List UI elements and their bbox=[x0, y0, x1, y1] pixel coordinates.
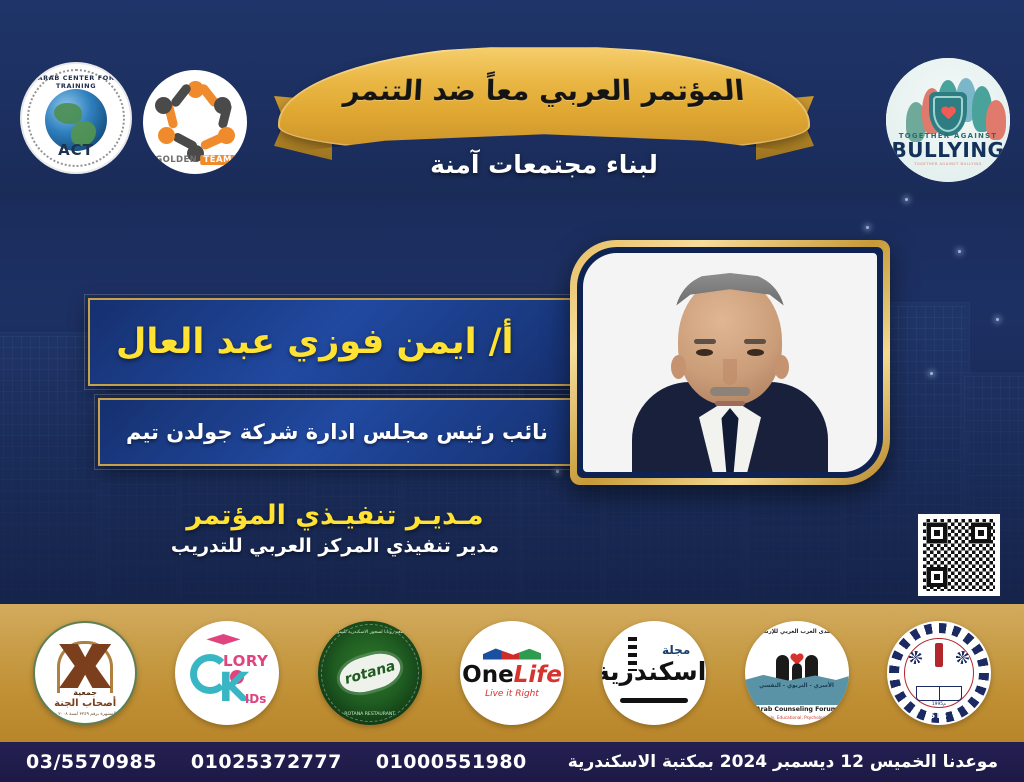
phone-1[interactable]: 03/5570985 bbox=[26, 751, 157, 773]
speaker-role-plaque: نائب رئيس مجلس ادارة شركة جولدن تيم bbox=[98, 398, 578, 466]
conference-title: المؤتمر العربي معاً ضد التنمر bbox=[276, 74, 812, 107]
speaker-name-plaque: أ/ ايمن فوزي عبد العال bbox=[88, 298, 578, 386]
underline-bar bbox=[620, 698, 688, 703]
act-arc-label: ARAB CENTER FOR TRAINING bbox=[22, 74, 130, 90]
acf-english: Arab Counseling Forum bbox=[745, 706, 849, 713]
acf-arabic-mid: الأسري - التربوي - النفسي bbox=[745, 683, 849, 689]
conference-subtitle: لبناء مجتمعات آمنة bbox=[278, 150, 810, 179]
qr-code[interactable] bbox=[918, 514, 1000, 596]
sparkle bbox=[996, 318, 999, 321]
sparkle bbox=[905, 198, 908, 201]
title-ribbon: المؤتمر العربي معاً ضد التنمر bbox=[278, 44, 810, 154]
executive-title-block: مـديـر تنفيـذي المؤتمر مدير تنفيذي المرك… bbox=[100, 500, 570, 557]
qr-finder-topleft bbox=[927, 523, 947, 543]
speaker-name: أ/ ايمن فوزي عبد العال bbox=[116, 322, 514, 362]
rotana-name: rotana bbox=[342, 658, 396, 688]
phone-3[interactable]: 01000551980 bbox=[376, 751, 527, 773]
magazine-name: اسكندرية bbox=[602, 659, 706, 684]
footer-bar: 03/5570985 01025372777 01000551980 موعدن… bbox=[0, 742, 1024, 782]
sparkle bbox=[958, 250, 961, 253]
rotana-top-text: مطعم روتانا لسحور الاسكندرية للتموين bbox=[318, 630, 422, 635]
logo-together-against-bullying: TOGETHER AGAINST BULLYING TOGETHER AGAIN… bbox=[886, 58, 1010, 182]
sponsor-logo-arab-counseling-forum: منتدى العرب العربي للإرشاد الأسري - التر… bbox=[745, 621, 849, 725]
logo-golden-team: GOLDEN TEAM bbox=[143, 70, 247, 174]
sponsor-line3: المشهرة برقم ٣٢٤٩ لسنة ٢٠٠٨ م bbox=[35, 712, 135, 717]
speaker-photo bbox=[583, 253, 877, 472]
phone-2[interactable]: 01025372777 bbox=[191, 751, 342, 773]
executive-subtitle: مدير تنفيذي المركز العربي للتدريب bbox=[100, 535, 570, 557]
golden-team-word1: GOLDEN bbox=[155, 155, 197, 165]
magazine-label: مجلة bbox=[662, 643, 690, 657]
event-date-venue: موعدنا الخميس 12 ديسمبر 2024 بمكتبة الاس… bbox=[568, 752, 998, 772]
sparkle bbox=[556, 470, 559, 473]
golden-team-word2: TEAM bbox=[201, 155, 235, 165]
sponsor-logo-ashab-elganna: جمعية أصحاب الجنة المشهرة برقم ٣٢٤٩ لسنة… bbox=[33, 621, 137, 725]
qr-finder-bottomleft bbox=[927, 567, 947, 587]
sponsor-logo-glory-kids: LORY K IDs bbox=[175, 621, 279, 725]
sparkle bbox=[930, 372, 933, 375]
sponsor-logo-sis-schools: 1995م SIS bbox=[887, 621, 991, 725]
bullying-tiny-label: TOGETHER AGAINST BULLYING bbox=[886, 162, 1010, 166]
sponsor-line2: أصحاب الجنة bbox=[35, 698, 135, 709]
phone-list: 03/5570985 01025372777 01000551980 bbox=[26, 751, 527, 773]
onelife-life: Life bbox=[514, 662, 562, 688]
conference-poster: ARAB CENTER FOR TRAINING ACT GOLDEN TEAM bbox=[0, 0, 1024, 782]
sponsor-strip: جمعية أصحاب الجنة المشهرة برقم ٣٢٤٩ لسنة… bbox=[0, 604, 1024, 742]
sparkle bbox=[866, 226, 869, 229]
acf-english-sub: Family, Educational, Psychological bbox=[745, 715, 849, 720]
onelife-tagline: Live it Right bbox=[462, 689, 562, 699]
sponsor-logo-onelife: OneLife Live it Right bbox=[460, 621, 564, 725]
bullying-large-label: BULLYING bbox=[886, 140, 1010, 160]
sponsor-line1: جمعية bbox=[35, 688, 135, 697]
shield-icon bbox=[929, 92, 967, 136]
qr-finder-topright bbox=[971, 523, 991, 543]
rotana-bottom-text: ROTANA RESTAURANT bbox=[318, 712, 422, 717]
act-monogram: ACT bbox=[22, 141, 130, 159]
sis-year: 1995م bbox=[887, 702, 991, 707]
heart-icon bbox=[941, 107, 956, 121]
onelife-one: One bbox=[462, 662, 514, 688]
logo-arab-center-for-training: ARAB CENTER FOR TRAINING ACT bbox=[20, 62, 132, 174]
book-icon bbox=[916, 686, 962, 701]
sponsor-logo-magazine-alexandria: مجلة اسكندرية bbox=[602, 621, 706, 725]
wave-icon bbox=[483, 648, 541, 660]
sponsor-logo-rotana: مطعم روتانا لسحور الاسكندرية للتموين rot… bbox=[318, 621, 422, 725]
ids-text: IDs bbox=[245, 692, 267, 706]
acf-arabic-top: منتدى العرب العربي للإرشاد bbox=[745, 629, 849, 635]
executive-title: مـديـر تنفيـذي المؤتمر bbox=[100, 500, 570, 531]
speaker-portrait-frame bbox=[570, 240, 890, 485]
golden-team-label: GOLDEN TEAM bbox=[155, 155, 235, 165]
sis-abbr: SIS bbox=[887, 711, 991, 720]
people-circle-icon bbox=[156, 83, 234, 161]
graduation-cap-icon bbox=[206, 634, 240, 646]
speaker-role: نائب رئيس مجلس ادارة شركة جولدن تيم bbox=[126, 420, 548, 444]
